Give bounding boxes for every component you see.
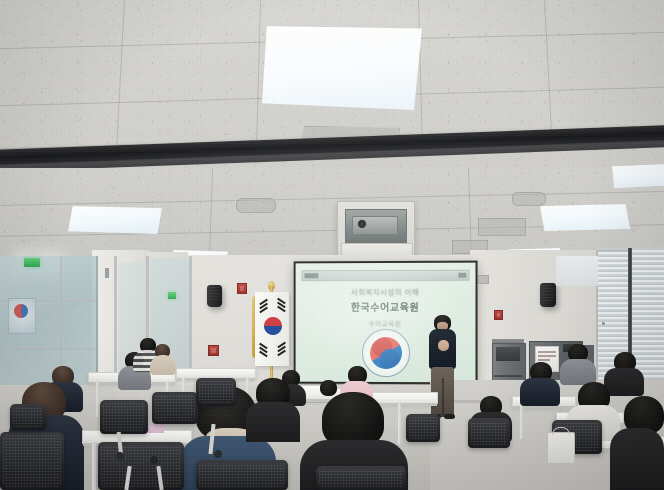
chair-caster — [214, 450, 222, 458]
chair-mesh — [409, 417, 437, 439]
ceiling-led-panel — [540, 204, 630, 231]
bag-on-floor — [547, 432, 575, 464]
presenter-hands — [438, 340, 449, 351]
chair-mesh — [471, 421, 507, 445]
chair[interactable] — [468, 418, 510, 448]
taeguk-emblem-icon — [14, 304, 28, 318]
wall-speaker-right — [540, 283, 556, 307]
av-cabinet-seam — [494, 375, 522, 377]
ceiling-led-panel — [68, 206, 162, 234]
attendee-body — [246, 402, 300, 442]
speaker-grille — [542, 285, 554, 302]
chair[interactable] — [0, 432, 64, 490]
classroom-photo: 사회복지시설의 이해 한국수어교육원 수어교육원 — [0, 0, 664, 490]
slide-toolbar-right-block — [458, 273, 466, 278]
rack-label-line — [538, 351, 556, 353]
chair[interactable] — [316, 466, 406, 490]
chair[interactable] — [152, 392, 198, 424]
emergency-exit-sign — [24, 258, 40, 267]
chair-mesh — [199, 381, 233, 403]
chair[interactable] — [196, 460, 288, 490]
chair-mesh — [319, 469, 403, 487]
fire-alarm-box[interactable] — [494, 310, 503, 320]
emergency-exit-sign — [168, 292, 176, 299]
presenter-leg-seam — [442, 378, 444, 416]
flag-taeguk-symbol-icon — [264, 317, 282, 335]
rack-label-line — [538, 355, 556, 357]
chair[interactable] — [10, 404, 46, 430]
chair[interactable] — [406, 414, 440, 442]
chair-mesh — [155, 395, 195, 421]
projector-lens-icon — [357, 219, 367, 229]
glass-door-handle[interactable] — [105, 268, 109, 278]
ceiling-smoke-detector — [236, 198, 276, 213]
fire-alarm-indicator — [211, 348, 216, 353]
blind-cord-anchor[interactable] — [602, 322, 605, 325]
attendee-head — [320, 380, 337, 396]
attendee-body — [610, 428, 664, 490]
fire-alarm-box[interactable] — [237, 283, 247, 294]
chair-mesh — [3, 435, 61, 487]
fire-alarm-indicator — [240, 286, 244, 291]
glass-mullion — [0, 348, 96, 350]
bag-handle — [552, 427, 570, 435]
ceiling-vent — [478, 218, 526, 236]
taeguk-symbol-icon — [370, 337, 402, 369]
chair-mesh — [199, 463, 285, 487]
taeguk-government-emblem-icon — [362, 329, 410, 377]
attendee-body — [604, 368, 644, 396]
ceiling-led-panel — [612, 164, 664, 188]
fire-alarm-box[interactable] — [208, 345, 219, 356]
chair-caster — [150, 456, 158, 464]
ceiling-smoke-detector — [512, 192, 546, 206]
attendee-body — [150, 355, 176, 375]
slide-toolbar-left-block — [305, 273, 319, 278]
desk-leg — [92, 442, 96, 490]
wall-sign — [478, 275, 489, 284]
upper-window-panel — [556, 256, 598, 286]
presenter-shoe — [444, 414, 455, 419]
slide-title: 한국수어교육원 — [296, 299, 476, 314]
slide-toolbar — [302, 270, 470, 282]
chair[interactable] — [196, 378, 236, 406]
ceiling-led-panel-main — [262, 26, 422, 110]
attendee-body — [520, 378, 560, 406]
glass-mullion — [114, 256, 117, 376]
av-cabinet-panel — [496, 347, 520, 361]
slide-subtitle: 사회복지시설의 이해 — [296, 287, 476, 298]
glass-mullion — [189, 256, 192, 376]
chair[interactable] — [98, 442, 184, 490]
desk-leg — [398, 402, 401, 444]
rack-label-line — [538, 359, 550, 361]
chair-mesh — [101, 445, 181, 487]
speaker-grille — [209, 287, 220, 302]
desk-leg — [520, 405, 523, 439]
chair[interactable] — [100, 400, 148, 434]
desk-leg — [96, 381, 99, 417]
chair-mesh — [103, 403, 145, 431]
chair-caster — [116, 452, 124, 460]
wall-speaker-left — [207, 285, 222, 307]
fire-alarm-indicator — [497, 313, 500, 317]
chair-mesh — [13, 407, 43, 427]
